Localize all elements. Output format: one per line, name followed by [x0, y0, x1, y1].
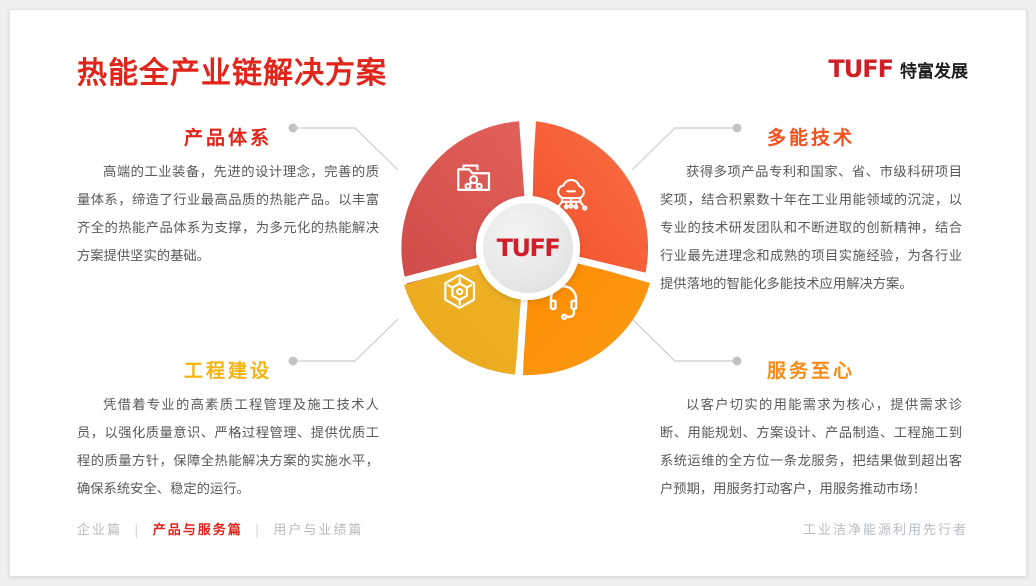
- brand-chinese-name: 特富发展: [900, 57, 968, 82]
- block-engineer: 工程建设 凭借着专业的高素质工程管理及施工技术人员，以强化质量意识、严格过程管理…: [77, 356, 379, 504]
- footer-nav-item-0[interactable]: 企业篇: [77, 523, 122, 538]
- footer-nav-item-1[interactable]: 产品与服务篇: [153, 523, 243, 538]
- block-tech-title: 多能技术: [660, 123, 962, 150]
- footer-tagline: 工业洁净能源利用先行者: [803, 519, 968, 538]
- block-product-body: 高端的工业装备，先进的设计理念，完善的质量体系，缔造了行业最高品质的热能产品。以…: [77, 159, 379, 271]
- brand-mark-text: TUFF: [828, 55, 893, 83]
- block-service-title: 服务至心: [660, 356, 962, 383]
- block-product: 产品体系 高端的工业装备，先进的设计理念，完善的质量体系，缔造了行业最高品质的热…: [77, 123, 379, 271]
- page-title: 热能全产业链解决方案: [77, 48, 387, 92]
- center-logo-text: TUFF: [497, 234, 560, 262]
- block-engineer-body: 凭借着专业的高素质工程管理及施工技术人员，以强化质量意识、严格过程管理、提供优质…: [77, 392, 379, 504]
- block-product-title: 产品体系: [77, 123, 379, 150]
- block-tech-body: 获得多项产品专利和国家、省、市级科研项目奖项，结合积累数十年在工业用能领域的沉淀…: [660, 159, 962, 299]
- center-logo: TUFF: [476, 196, 580, 300]
- block-service: 服务至心 以客户切实的用能需求为核心，提供需求诊断、用能规划、方案设计、产品制造…: [660, 356, 962, 504]
- block-service-body: 以客户切实的用能需求为核心，提供需求诊断、用能规划、方案设计、产品制造、工程施工…: [660, 392, 962, 504]
- footer-nav-separator-0: |: [134, 523, 140, 538]
- footer-nav-separator-1: |: [255, 523, 261, 538]
- footer-nav-item-2[interactable]: 用户与业绩篇: [273, 523, 363, 538]
- brand-logo: TUFF 特富发展: [828, 55, 968, 83]
- donut-chart: TUFF: [395, 115, 661, 381]
- footer-nav: 企业篇 | 产品与服务篇 | 用户与业绩篇: [77, 519, 363, 538]
- block-engineer-title: 工程建设: [77, 356, 379, 383]
- block-tech: 多能技术 获得多项产品专利和国家、省、市级科研项目奖项，结合积累数十年在工业用能…: [660, 123, 962, 299]
- slide-canvas: 热能全产业链解决方案 TUFF 特富发展: [9, 9, 1027, 577]
